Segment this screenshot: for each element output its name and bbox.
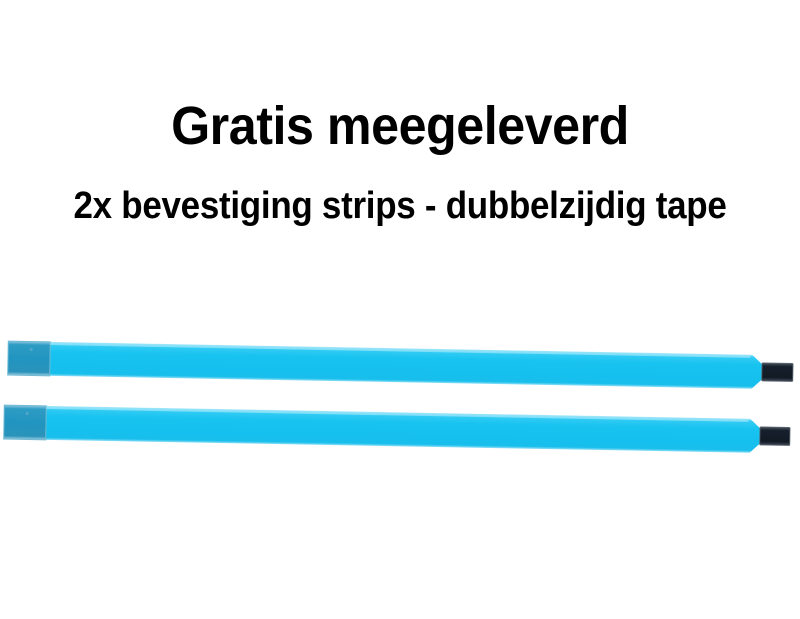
promo-banner: Gratis meegeleverd 2x bevestiging strips…	[0, 0, 800, 619]
tape-body	[8, 341, 766, 389]
dark-end-tab-right	[760, 427, 790, 446]
tape-body	[4, 405, 764, 453]
pull-tab-left	[8, 341, 51, 376]
bevestiging-strip-2	[0, 404, 790, 454]
promo-subtitle: 2x bevestiging strips - dubbelzijdig tap…	[32, 183, 768, 229]
pull-tab-left	[4, 405, 47, 440]
tape-strip-graphic	[0, 404, 790, 454]
bevestiging-strip-1	[4, 340, 795, 390]
promo-heading-block: Gratis meegeleverd 2x bevestiging strips…	[0, 95, 800, 229]
promo-title: Gratis meegeleverd	[28, 95, 772, 157]
dark-end-tab-right	[762, 363, 793, 382]
tape-strip-graphic	[4, 340, 795, 390]
